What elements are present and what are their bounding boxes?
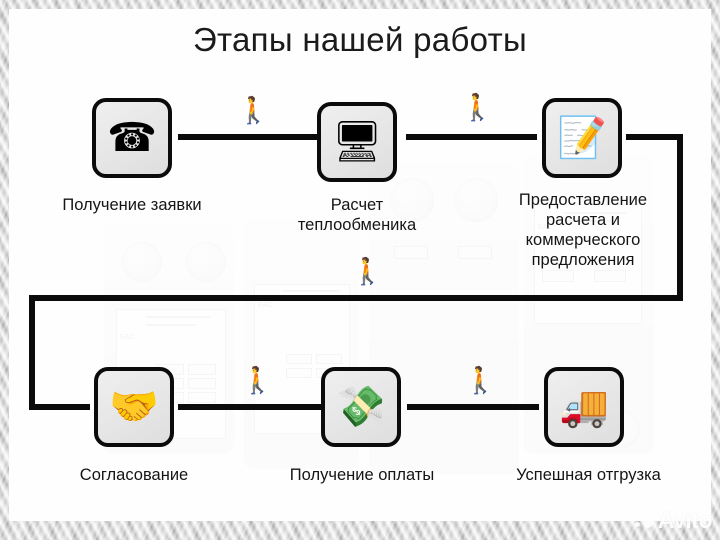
money-with-wings-icon: 💸 <box>336 387 386 427</box>
desktop-computer-icon: 🖥 <box>332 122 383 162</box>
step-box-2[interactable]: 🖥 <box>317 102 397 182</box>
walking-person-icon-1: 🚶 <box>237 97 269 123</box>
step-box-3[interactable]: 📝 <box>542 98 622 178</box>
step-caption-6: Успешная отгрузка <box>481 465 696 485</box>
delivery-truck-icon: 🚚 <box>559 387 609 427</box>
handshake-icon: 🤝 <box>109 387 159 427</box>
walking-person-icon-4: 🚶 <box>241 367 273 393</box>
step-caption-5: Получение оплаты <box>257 465 467 485</box>
step-box-1[interactable]: ☎ <box>92 98 172 178</box>
poster-canvas: ЕАС ЕАС ЕАС <box>9 9 711 521</box>
step-label-5: Получение оплаты <box>290 466 434 484</box>
walking-person-icon-3: 🚶 <box>351 258 383 284</box>
avito-dots-logo-icon <box>634 511 654 531</box>
step-label-3-line-3: коммерческого <box>485 230 681 250</box>
walking-person-icon-5: 🚶 <box>464 367 496 393</box>
poster-root: ЕАС ЕАС ЕАС <box>0 0 720 540</box>
step-caption-3: Предоставление расчета и коммерческого п… <box>485 190 681 270</box>
step-label-6: Успешная отгрузка <box>516 466 661 484</box>
step-box-6[interactable]: 🚚 <box>544 367 624 447</box>
step-label-2-line-1: Расчет <box>257 195 457 215</box>
step-label-2-line-2: теплообменика <box>257 215 457 235</box>
step-label-3-line-1: Предоставление <box>485 190 681 210</box>
step-caption-1: Получение заявки <box>22 195 242 215</box>
step-label-3-line-4: предложения <box>485 250 681 270</box>
walking-person-icon-2: 🚶 <box>461 94 493 120</box>
memo-pencil-icon: 📝 <box>557 118 607 158</box>
step-box-4[interactable]: 🤝 <box>94 367 174 447</box>
step-caption-4: Согласование <box>34 465 234 485</box>
step-box-5[interactable]: 💸 <box>321 367 401 447</box>
step-caption-2: Расчет теплообменика <box>257 195 457 235</box>
step-label-1: Получение заявки <box>62 196 201 214</box>
step-label-4: Согласование <box>80 466 188 484</box>
step-label-3-line-2: расчета и <box>485 210 681 230</box>
avito-wordmark: Avito <box>658 507 712 534</box>
avito-watermark: Avito <box>634 507 712 534</box>
telephone-icon: ☎ <box>107 118 157 158</box>
